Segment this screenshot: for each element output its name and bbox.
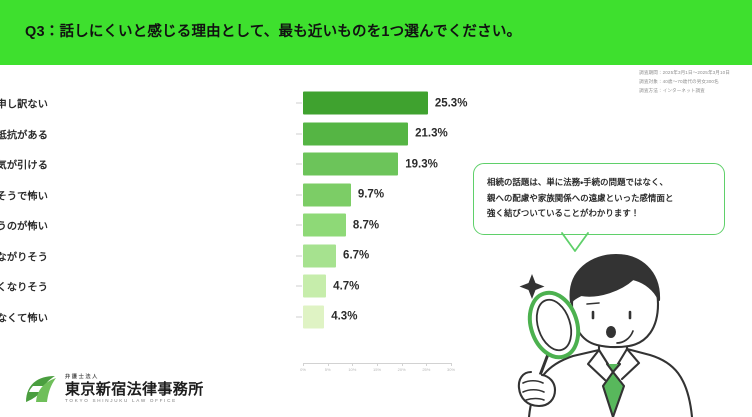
- x-axis-tick: [328, 363, 329, 366]
- bar-row: 「お金目当て」と思われそうで気が引ける19.3%: [0, 149, 500, 180]
- insight-callout-line-2: 親への配慮や家族関係への遠慮といった感情面と: [487, 191, 711, 207]
- bar: [303, 214, 346, 237]
- x-axis-tick-label: 15%: [373, 367, 381, 372]
- x-axis-tick-label: 25%: [422, 367, 430, 372]
- x-axis-tick-label: 20%: [398, 367, 406, 372]
- logo-name: 東京新宿法律事務所: [65, 382, 204, 397]
- bar-chart: 親に“死”を連想させてしまいそうで申し訳ない25.3%理由はうまく言えないが、な…: [0, 88, 500, 363]
- bar-value-label: 4.3%: [331, 311, 357, 323]
- survey-meta-target: 調査対象：40歳〜70歳代の男女300名: [639, 78, 730, 87]
- survey-meta: 調査期間：2025年3月1日〜2025年3月10日 調査対象：40歳〜70歳代の…: [639, 69, 730, 96]
- bar: [303, 305, 324, 328]
- logo-text: 弁護士法人 東京新宿法律事務所 TOKYO SHINJUKU LAW OFFIC…: [65, 375, 204, 404]
- bar-category-label: 家族の雰囲気が悪くなりそう: [0, 279, 48, 294]
- bar: [303, 244, 336, 267]
- bar-category-label: 親がどう反応するかわからなくて怖い: [0, 309, 48, 324]
- bar-value-label: 19.3%: [405, 158, 438, 170]
- x-axis-tick: [377, 363, 378, 366]
- bar-axis-tick: [296, 286, 302, 287]
- x-axis-tick-label: 5%: [325, 367, 331, 372]
- bar: [303, 275, 326, 298]
- bar-and-value: 19.3%: [303, 153, 438, 176]
- bar-axis-tick: [296, 133, 302, 134]
- slide-header: Q3：話しにくいと感じる理由として、最も近いものを1つ選んでください。: [0, 0, 752, 65]
- x-axis-tick: [451, 363, 452, 366]
- bar-and-value: 4.7%: [303, 275, 359, 298]
- x-axis-tick-label: 10%: [348, 367, 356, 372]
- bar-axis-tick: [296, 164, 302, 165]
- bar-category-label: 理由はうまく言えないが、なんとなく抵抗がある: [0, 126, 48, 141]
- bar-and-value: 9.7%: [303, 183, 384, 206]
- bar-and-value: 25.3%: [303, 92, 467, 115]
- illustration-man-with-magnifier: [487, 246, 752, 417]
- bar-and-value: 6.7%: [303, 244, 369, 267]
- chart-x-axis-ticks: 0%5%10%15%20%25%30%: [303, 363, 451, 373]
- bar-and-value: 4.3%: [303, 305, 357, 328]
- bar: [303, 122, 408, 145]
- x-axis-tick: [426, 363, 427, 366]
- bar-value-label: 6.7%: [343, 250, 369, 262]
- bar-row: 親がどう反応するかわからなくて怖い4.3%: [0, 302, 500, 333]
- bar-value-label: 4.7%: [333, 280, 359, 292]
- bar-row: 親に“死”を連想させてしまいそうで申し訳ない25.3%: [0, 88, 500, 119]
- logo-kind: 弁護士法人: [65, 375, 204, 380]
- bar-axis-tick: [296, 255, 302, 256]
- bar-axis-tick: [296, 194, 302, 195]
- bar-value-label: 25.3%: [435, 97, 468, 109]
- bar-category-label: 親に“死”を連想させてしまいそうで申し訳ない: [0, 96, 48, 111]
- x-axis-tick: [352, 363, 353, 366]
- x-axis-tick-label: 30%: [447, 367, 455, 372]
- logo-romanized: TOKYO SHINJUKU LAW OFFICE: [65, 399, 204, 404]
- insight-callout-line-3: 強く結びついていることがわかります！: [487, 206, 711, 222]
- bar: [303, 183, 351, 206]
- bar-value-label: 21.3%: [415, 128, 448, 140]
- bar-axis-tick: [296, 103, 302, 104]
- bar-axis-tick: [296, 225, 302, 226]
- leaf-logo-icon: [24, 374, 58, 404]
- bar-row: 理由はうまく言えないが、なんとなく抵抗がある21.3%: [0, 119, 500, 150]
- x-axis-tick: [402, 363, 403, 366]
- bar: [303, 92, 428, 115]
- survey-meta-period: 調査期間：2025年3月1日〜2025年3月10日: [639, 69, 730, 78]
- bar-row: きょうだいとの揉めごとにつながりそう6.7%: [0, 241, 500, 272]
- bar-value-label: 9.7%: [358, 189, 384, 201]
- bar-value-label: 8.7%: [353, 219, 379, 231]
- bar-and-value: 8.7%: [303, 214, 379, 237]
- bar-axis-tick: [296, 316, 302, 317]
- page-title: Q3：話しにくいと感じる理由として、最も近いものを1つ選んでください。: [25, 20, 521, 41]
- bar-row: 親を急かしているように見えそうで怖い9.7%: [0, 180, 500, 211]
- bar-category-label: 親を急かしているように見えそうで怖い: [0, 187, 48, 202]
- insight-callout-text: 相続の話題は、単に法務・手続の問題ではなく、 親への配慮や家族関係への遠慮といっ…: [487, 175, 711, 222]
- company-logo: 弁護士法人 東京新宿法律事務所 TOKYO SHINJUKU LAW OFFIC…: [24, 374, 204, 404]
- insight-callout-line-1: 相続の話題は、単に法務・手続の問題ではなく、: [487, 175, 711, 191]
- bar-category-label: 「お金目当て」と思われそうで気が引ける: [0, 157, 48, 172]
- x-axis-tick-label: 0%: [300, 367, 306, 372]
- bar: [303, 153, 398, 176]
- survey-meta-method: 調査方法：インターネット調査: [639, 87, 730, 96]
- bar-category-label: 親の老いや将来と向き合うのが怖い: [0, 218, 48, 233]
- bar-category-label: きょうだいとの揉めごとにつながりそう: [0, 248, 48, 263]
- x-axis-tick: [303, 363, 304, 366]
- bar-row: 家族の雰囲気が悪くなりそう4.7%: [0, 271, 500, 302]
- slide-root: Q3：話しにくいと感じる理由として、最も近いものを1つ選んでください。 調査期間…: [0, 0, 752, 417]
- bar-and-value: 21.3%: [303, 122, 448, 145]
- bar-row: 親の老いや将来と向き合うのが怖い8.7%: [0, 210, 500, 241]
- insight-callout: 相続の話題は、単に法務・手続の問題ではなく、 親への配慮や家族関係への遠慮といっ…: [473, 163, 725, 235]
